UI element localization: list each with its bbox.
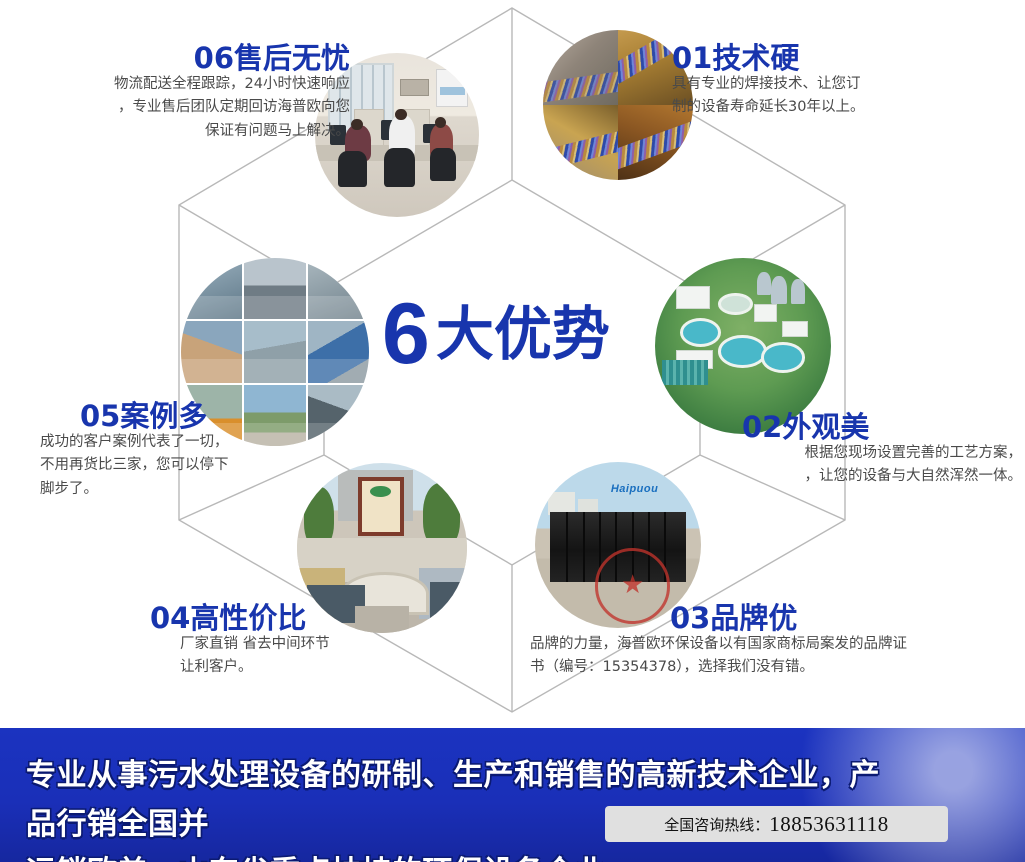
advantage-block-01: 01技术硬 具有专业的焊接技术、让您订 制的设备寿命延长30年以上。 bbox=[672, 44, 1012, 120]
hotline-box[interactable]: 全国咨询热线： 18853631118 bbox=[605, 806, 948, 842]
advantage-heading-04: 04高性价比 bbox=[150, 604, 480, 633]
infographic-canvas: 6 大优势 bbox=[0, 0, 1025, 862]
advantage-line: 成功的客户案例代表了一切， bbox=[40, 431, 340, 454]
advantage-line: 书（编号：15354378），选择我们没有错。 bbox=[530, 656, 1025, 679]
advantage-block-05: 05案例多 成功的客户案例代表了一切， 不用再货比三家，您可以停下 脚步了。 bbox=[40, 402, 340, 501]
advantage-heading-05: 05案例多 bbox=[40, 402, 340, 431]
haipuou-logo: Haipuou bbox=[601, 480, 667, 497]
advantage-line: 具有专业的焊接技术、让您订 bbox=[672, 73, 1012, 96]
advantage-line: 物流配送全程跟踪，24小时快速响应 bbox=[20, 73, 350, 96]
advantage-block-03: 03品牌优 品牌的力量，海普欧环保设备以有国家商标局案发的品牌证 书（编号：15… bbox=[530, 604, 1025, 680]
advantage-line: 根据您现场设置完善的工艺方案， bbox=[742, 442, 1022, 465]
advantage-block-02: 02外观美 根据您现场设置完善的工艺方案， ，让您的设备与大自然浑然一体。 bbox=[742, 413, 1022, 489]
advantage-line: 品牌的力量，海普欧环保设备以有国家商标局案发的品牌证 bbox=[530, 633, 1025, 656]
advantage-line: 不用再货比三家，您可以停下 bbox=[40, 454, 340, 477]
advantage-block-04: 04高性价比 厂家直销 省去中间环节 让利客户。 bbox=[150, 604, 480, 680]
advantage-line: 脚步了。 bbox=[40, 478, 340, 501]
center-label: 6 大优势 bbox=[382, 288, 652, 380]
advantage-heading-01: 01技术硬 bbox=[672, 44, 1012, 73]
advantage-line: ，让您的设备与大自然浑然一体。 bbox=[742, 465, 1022, 488]
welding-detail-photo bbox=[543, 30, 693, 180]
hotline-number: 18853631118 bbox=[769, 812, 888, 837]
banner-line-2: 远销欧美，山东省重点扶持的环保设备企业。 bbox=[26, 849, 906, 862]
advantage-line: ，专业售后团队定期回访海普欧向您 bbox=[20, 96, 350, 119]
advantage-heading-06: 06售后无忧 bbox=[20, 44, 350, 73]
center-number: 6 bbox=[382, 291, 428, 377]
advantage-line: 制的设备寿命延长30年以上。 bbox=[672, 96, 1012, 119]
advantage-heading-03: 03品牌优 bbox=[530, 604, 1025, 633]
advantage-line: 让利客户。 bbox=[150, 656, 480, 679]
center-word: 大优势 bbox=[436, 305, 610, 363]
hotline-label: 全国咨询热线： bbox=[664, 814, 769, 835]
advantage-heading-02: 02外观美 bbox=[742, 413, 1022, 442]
advantage-line: 厂家直销 省去中间环节 bbox=[150, 633, 480, 656]
advantage-line: 保证有问题马上解决。 bbox=[20, 120, 350, 143]
aerial-plant-photo bbox=[655, 258, 831, 434]
advantage-block-06: 06售后无忧 物流配送全程跟踪，24小时快速响应 ，专业售后团队定期回访海普欧向… bbox=[20, 44, 350, 143]
